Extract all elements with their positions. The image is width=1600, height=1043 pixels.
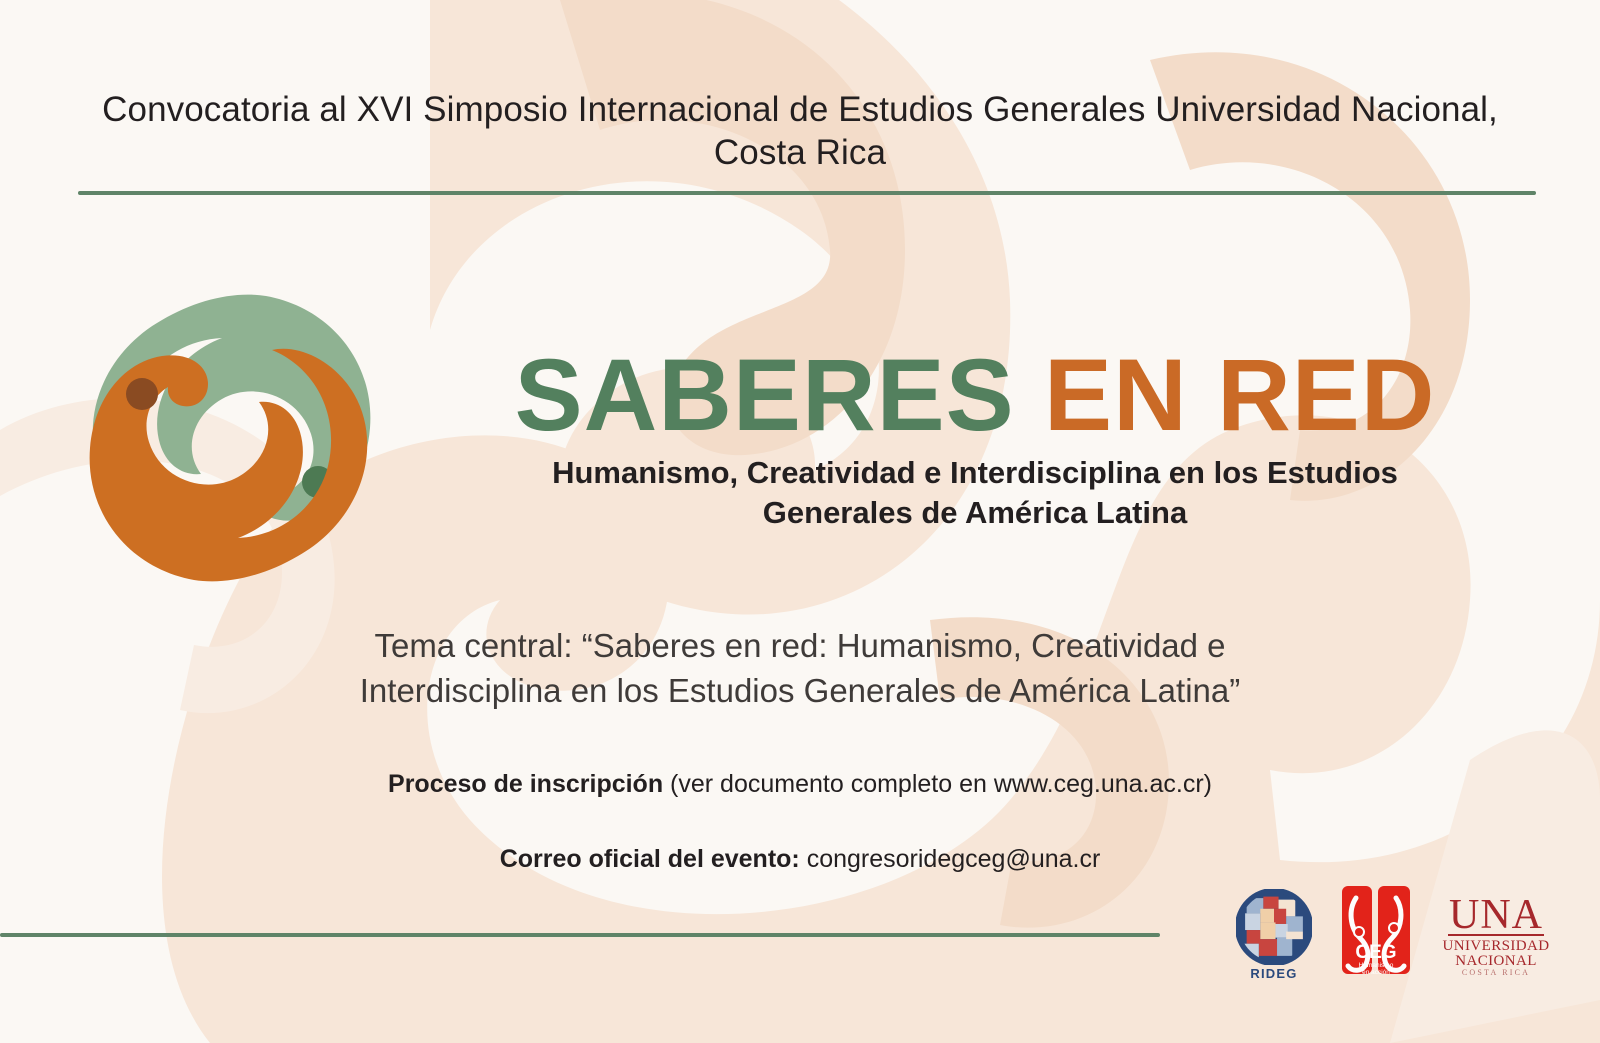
- rideg-label: RIDEG: [1222, 966, 1326, 981]
- ceg-subtitle2: en acción: [1362, 969, 1390, 976]
- logo-rideg: RIDEG: [1222, 889, 1326, 981]
- poster-root: Convocatoria al XVI Simposio Internacion…: [0, 0, 1600, 1043]
- una-title: UNA: [1449, 892, 1543, 938]
- wordmark: SABERES EN RED: [410, 343, 1540, 447]
- brand-tagline: Humanismo, Creatividad e Interdisciplina…: [410, 453, 1540, 534]
- email-value[interactable]: congresoridegceg@una.cr: [800, 845, 1101, 873]
- partner-logos: RIDEG CEG Humanismo en acción UNA UNIVER…: [1222, 884, 1562, 981]
- logo-orange-head-dot: [126, 378, 158, 410]
- una-line1: UNIVERSIDAD: [1443, 938, 1550, 954]
- logo-una: UNA UNIVERSIDAD NACIONAL COSTA RICA: [1434, 890, 1562, 981]
- email-line: Correo oficial del evento: congresorideg…: [170, 843, 1430, 876]
- una-line2: NACIONAL: [1455, 953, 1537, 969]
- theme-line2: Interdisciplina en los Estudios Generale…: [200, 669, 1400, 714]
- brand-text: SABERES EN RED Humanismo, Creatividad e …: [390, 343, 1540, 534]
- inscription-line: Proceso de inscripción (ver documento co…: [170, 768, 1430, 801]
- brand-block: SABERES EN RED Humanismo, Creatividad e …: [70, 278, 1540, 598]
- wordmark-part-en-red: EN RED: [1044, 338, 1435, 452]
- theme-line1: Tema central: “Saberes en red: Humanismo…: [200, 624, 1400, 669]
- logo-ceg: CEG Humanismo en acción: [1340, 884, 1420, 981]
- ceg-title: CEG: [1355, 942, 1396, 963]
- divider-top: [78, 191, 1536, 195]
- una-icon: UNA UNIVERSIDAD NACIONAL COSTA RICA: [1434, 890, 1558, 976]
- ceg-subtitle1: Humanismo: [1359, 962, 1394, 969]
- saberes-en-red-swirl-icon: [70, 278, 390, 598]
- contact-block: Proceso de inscripción (ver documento co…: [170, 768, 1430, 875]
- header: Convocatoria al XVI Simposio Internacion…: [80, 88, 1520, 175]
- wordmark-part-saberes: SABERES: [515, 338, 1015, 452]
- inscription-label: Proceso de inscripción: [388, 770, 663, 798]
- divider-bottom: [0, 933, 1160, 937]
- email-label: Correo oficial del evento:: [500, 845, 800, 873]
- brand-tagline-line2: Generales de América Latina: [410, 493, 1540, 533]
- page-title: Convocatoria al XVI Simposio Internacion…: [80, 88, 1520, 175]
- rideg-globe-icon: [1236, 889, 1312, 965]
- theme-statement: Tema central: “Saberes en red: Humanismo…: [200, 624, 1400, 714]
- inscription-note: (ver documento completo en www.ceg.una.a…: [663, 770, 1212, 798]
- brand-tagline-line1: Humanismo, Creatividad e Interdisciplina…: [410, 453, 1540, 493]
- una-line3: COSTA RICA: [1462, 968, 1530, 976]
- ceg-icon: CEG Humanismo en acción: [1340, 884, 1412, 976]
